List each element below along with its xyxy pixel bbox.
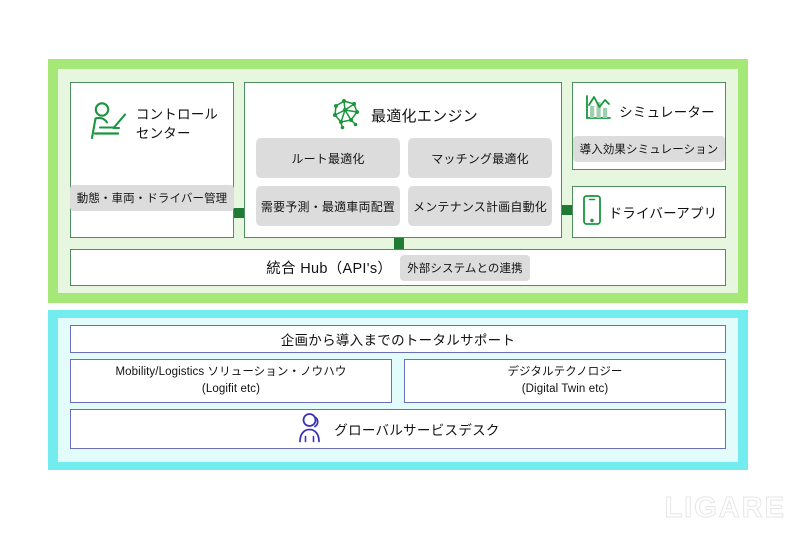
simulator-chip[interactable]: 導入効果シミュレーション [573, 136, 726, 162]
driver-app-title: ドライバーアプリ [609, 202, 718, 222]
headset-operator-icon [296, 411, 326, 448]
control-center-title-line1: コントロール [136, 107, 218, 122]
bar-chart-line-icon [583, 93, 613, 128]
connector-control-center-to-engine [234, 208, 244, 218]
smartphone-icon [581, 194, 603, 231]
optimization-cell-matching[interactable]: マッチング最適化 [408, 138, 552, 178]
simulator-title: シミュレーター [619, 101, 715, 121]
simulator-card[interactable]: シミュレーター 導入効果シミュレーション [572, 82, 726, 170]
pillar-mobility-line2: (Logifit etc) [202, 381, 260, 398]
network-graph-icon [328, 95, 364, 136]
optimization-cell-demand-forecast[interactable]: 需要予測・最適車両配置 [256, 186, 400, 226]
person-at-desk-icon [86, 101, 130, 148]
global-service-desk-title: グローバルサービスデスク [334, 419, 499, 439]
control-center-title: コントロール センター [136, 106, 218, 142]
connector-engine-to-driver-app [562, 205, 572, 215]
integration-hub-chip[interactable]: 外部システムとの連携 [400, 255, 530, 281]
optimization-engine-cells: ルート最適化 マッチング最適化 需要予測・最適車両配置 メンテナンス計画自動化 [256, 138, 552, 226]
control-center-chip[interactable]: 動態・車両・ドライバー管理 [70, 185, 235, 211]
optimization-cell-maintenance[interactable]: メンテナンス計画自動化 [408, 186, 552, 226]
integration-hub-label: 統合 Hub（API's） [266, 257, 392, 278]
connector-engine-to-hub [394, 238, 404, 249]
optimization-engine-header: 最適化エンジン [245, 95, 561, 136]
pillar-digital-line1: デジタルテクノロジー [507, 364, 622, 381]
pillar-mobility-text: Mobility/Logistics ソリューション・ノウハウ (Logifit… [71, 360, 391, 402]
pillar-digital-line2: (Digital Twin etc) [522, 381, 609, 398]
pillar-mobility-logistics[interactable]: Mobility/Logistics ソリューション・ノウハウ (Logifit… [70, 359, 392, 403]
control-center-chip-row: 動態・車両・ドライバー管理 [71, 185, 233, 211]
pillar-mobility-line1: Mobility/Logistics ソリューション・ノウハウ [116, 364, 347, 381]
pillar-digital-technology[interactable]: デジタルテクノロジー (Digital Twin etc) [404, 359, 726, 403]
simulator-chip-row: 導入効果シミュレーション [573, 136, 725, 162]
driver-app-card[interactable]: ドライバーアプリ [572, 186, 726, 238]
optimization-engine-card[interactable]: 最適化エンジン ルート最適化 マッチング最適化 需要予測・最適車両配置 メンテナ… [244, 82, 562, 238]
pillar-digital-text: デジタルテクノロジー (Digital Twin etc) [405, 360, 725, 402]
ligare-watermark: LIGARE [664, 492, 786, 525]
control-center-title-line2: センター [136, 126, 191, 141]
control-center-header: コントロール センター [71, 101, 233, 148]
integration-hub-card[interactable]: 統合 Hub（API's） 外部システムとの連携 [70, 249, 726, 286]
control-center-card[interactable]: コントロール センター 動態・車両・ドライバー管理 [70, 82, 234, 238]
simulator-header: シミュレーター [573, 93, 725, 128]
optimization-cell-route[interactable]: ルート最適化 [256, 138, 400, 178]
total-support-banner[interactable]: 企画から導入までのトータルサポート [70, 325, 726, 353]
optimization-engine-title: 最適化エンジン [371, 105, 478, 126]
global-service-desk-card[interactable]: グローバルサービスデスク [70, 409, 726, 449]
